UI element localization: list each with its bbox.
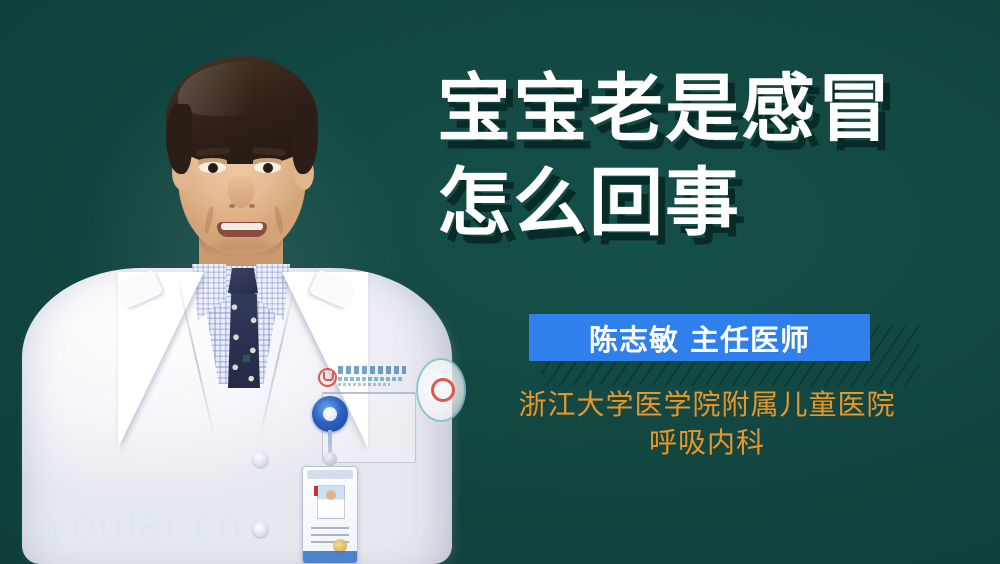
- hair-side-left: [166, 104, 192, 174]
- hospital-logo: [318, 366, 410, 388]
- logo-english-text: [338, 377, 402, 381]
- badge-reel-clip: [323, 452, 337, 466]
- title-block: 宝宝老是感冒 怎么回事: [437, 62, 977, 250]
- title-line-2: 怎么回事: [437, 156, 977, 250]
- hospital-id-card: [302, 466, 358, 564]
- eye-right: [254, 162, 281, 173]
- nostril-right: [249, 204, 255, 208]
- nose: [228, 174, 254, 208]
- speaker-name-title: 陈志敏 主任医师: [589, 317, 810, 359]
- badge-reel-icon: [312, 396, 348, 432]
- doctor-portrait: [0, 0, 470, 564]
- pupil-right: [263, 163, 273, 173]
- teeth: [221, 223, 263, 230]
- id-card-header: [307, 470, 353, 479]
- coat-button-lower: [253, 522, 268, 537]
- speaker-badge-group: 陈志敏 主任医师: [529, 314, 919, 386]
- title-line-1: 宝宝老是感冒: [437, 62, 977, 156]
- id-card-footer: [303, 551, 357, 563]
- mouth: [217, 222, 267, 237]
- logo-subtext: [338, 383, 390, 386]
- hospital-name: 浙江大学医学院附属儿童医院: [437, 386, 977, 424]
- id-photo-tie: [314, 486, 318, 496]
- tie-accent-square: [243, 355, 250, 362]
- tie-knot: [228, 268, 258, 298]
- eye-left: [199, 162, 226, 173]
- chin-shadow: [210, 240, 274, 254]
- logo-mark-icon: [318, 368, 337, 387]
- status-badge: 陈志敏 主任医师: [529, 314, 870, 361]
- coat-button-upper: [253, 452, 268, 467]
- id-card-photo: [317, 485, 345, 519]
- department-name: 呼吸内科: [437, 424, 977, 462]
- nostril-left: [229, 204, 235, 208]
- video-thumbnail: youlai.cn 宝宝老是感冒 怎么回事 陈志敏 主任医师 浙江大学医学院附属…: [0, 0, 1000, 564]
- affiliation-block: 浙江大学医学院附属儿童医院 呼吸内科: [437, 386, 977, 462]
- logo-chinese-text: [338, 366, 406, 374]
- watermark: youlai.cn: [46, 502, 244, 548]
- pupil-left: [208, 163, 218, 173]
